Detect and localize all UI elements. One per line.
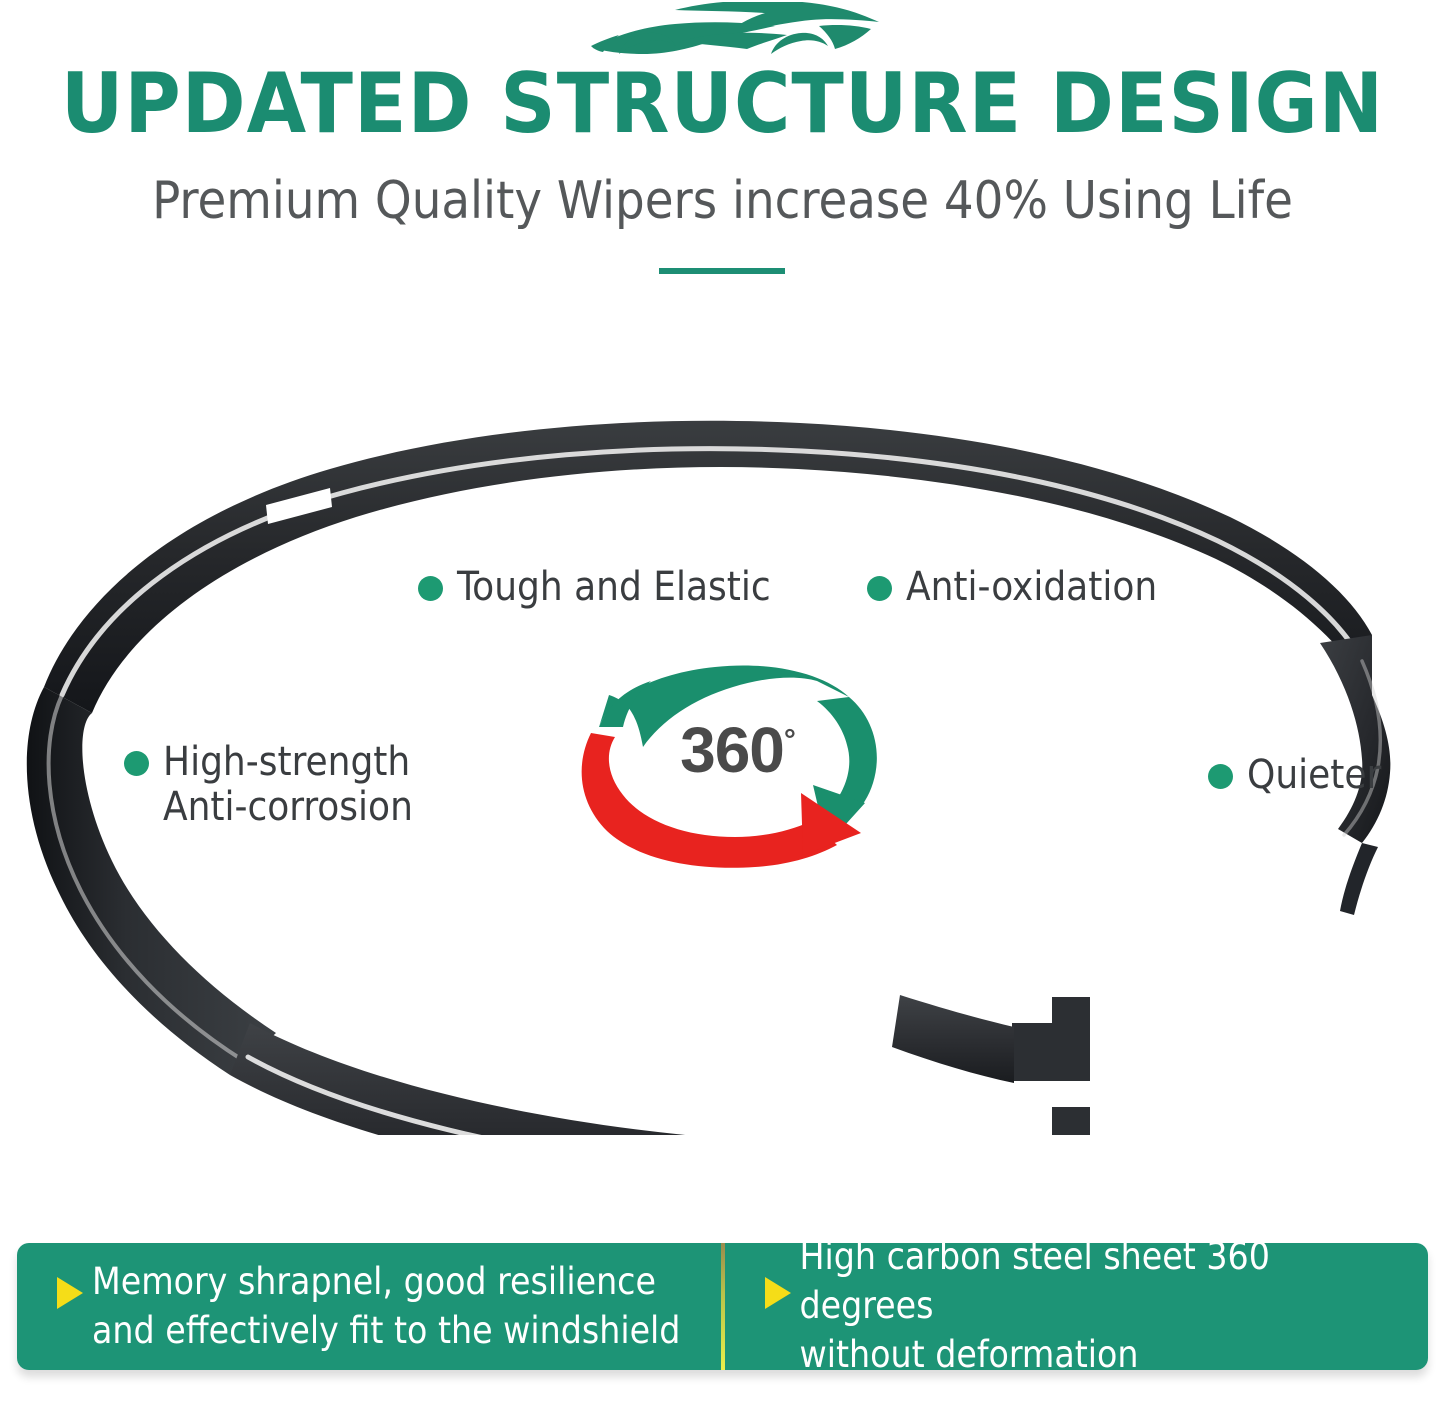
bullet-dot-icon xyxy=(867,576,892,601)
feature-label-high-strength: High-strength Anti-corrosion xyxy=(124,740,413,830)
360-rotation-arrows-icon xyxy=(565,655,910,875)
bullet-dot-icon xyxy=(124,751,149,776)
bullet-dot-icon xyxy=(418,576,443,601)
bottom-banner: Memory shrapnel, good resilience and eff… xyxy=(17,1243,1428,1370)
feature-label-anti-oxidation: Anti-oxidation xyxy=(867,565,1157,610)
title-underline-divider xyxy=(659,268,785,274)
banner-panel-right-text: High carbon steel sheet 360 degrees with… xyxy=(800,1243,1407,1370)
feature-label-text: Quieter xyxy=(1247,753,1381,798)
page-title: UPDATED STRUCTURE DESIGN xyxy=(0,62,1445,145)
banner-panel-right: High carbon steel sheet 360 degrees with… xyxy=(725,1243,1429,1370)
360-degree-badge: 360° xyxy=(565,655,910,875)
play-triangle-right-icon xyxy=(57,1277,83,1309)
feature-label-quieter: Quieter xyxy=(1208,753,1381,798)
bullet-dot-icon xyxy=(1208,764,1233,789)
feature-label-text: High-strength Anti-corrosion xyxy=(163,740,413,830)
infographic-page: UPDATED STRUCTURE DESIGN Premium Quality… xyxy=(0,0,1445,1421)
page-subtitle: Premium Quality Wipers increase 40% Usin… xyxy=(0,172,1445,232)
feature-label-text: Tough and Elastic xyxy=(457,565,771,610)
banner-panel-left: Memory shrapnel, good resilience and eff… xyxy=(17,1243,721,1370)
feature-label-tough-and-elastic: Tough and Elastic xyxy=(418,565,771,610)
banner-panel-left-text: Memory shrapnel, good resilience and eff… xyxy=(92,1258,680,1356)
feature-label-text: Anti-oxidation xyxy=(906,565,1157,610)
play-triangle-right-icon xyxy=(765,1277,791,1309)
